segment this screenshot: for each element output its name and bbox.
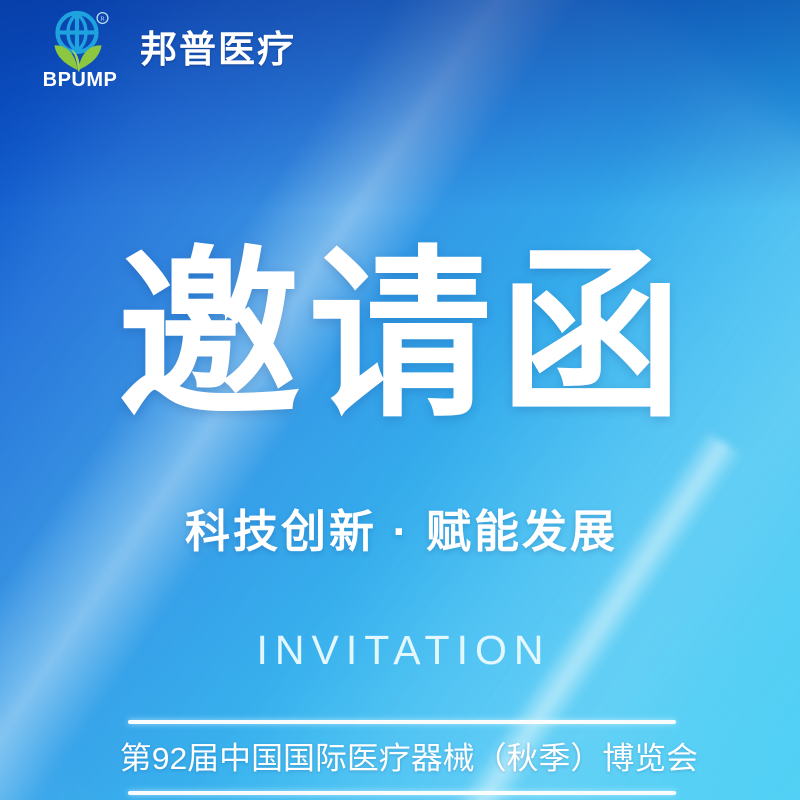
invitation-label-en: INVITATION: [0, 630, 800, 671]
svg-text:R: R: [100, 16, 105, 23]
subtitle-slogan: 科技创新 · 赋能发展: [0, 509, 800, 554]
brand-header: R BPUMP 邦普医疗: [44, 10, 296, 88]
bpump-wordmark: BPUMP: [44, 69, 117, 88]
divider-bottom: [128, 791, 676, 795]
invitation-poster: R BPUMP 邦普医疗 邀请函 科技创新 · 赋能发展 INVITATION …: [0, 0, 800, 800]
company-name: 邦普医疗: [140, 31, 296, 68]
poster-center-content: 邀请函 科技创新 · 赋能发展 INVITATION: [0, 244, 800, 671]
headline-invitation-cn: 邀请函: [0, 244, 800, 427]
bpump-logo-icon: R BPUMP: [44, 10, 118, 88]
event-name-bar: 第92届中国国际医疗器械（秋季）博览会: [128, 720, 676, 795]
event-name: 第92届中国国际医疗器械（秋季）博览会: [120, 724, 684, 791]
